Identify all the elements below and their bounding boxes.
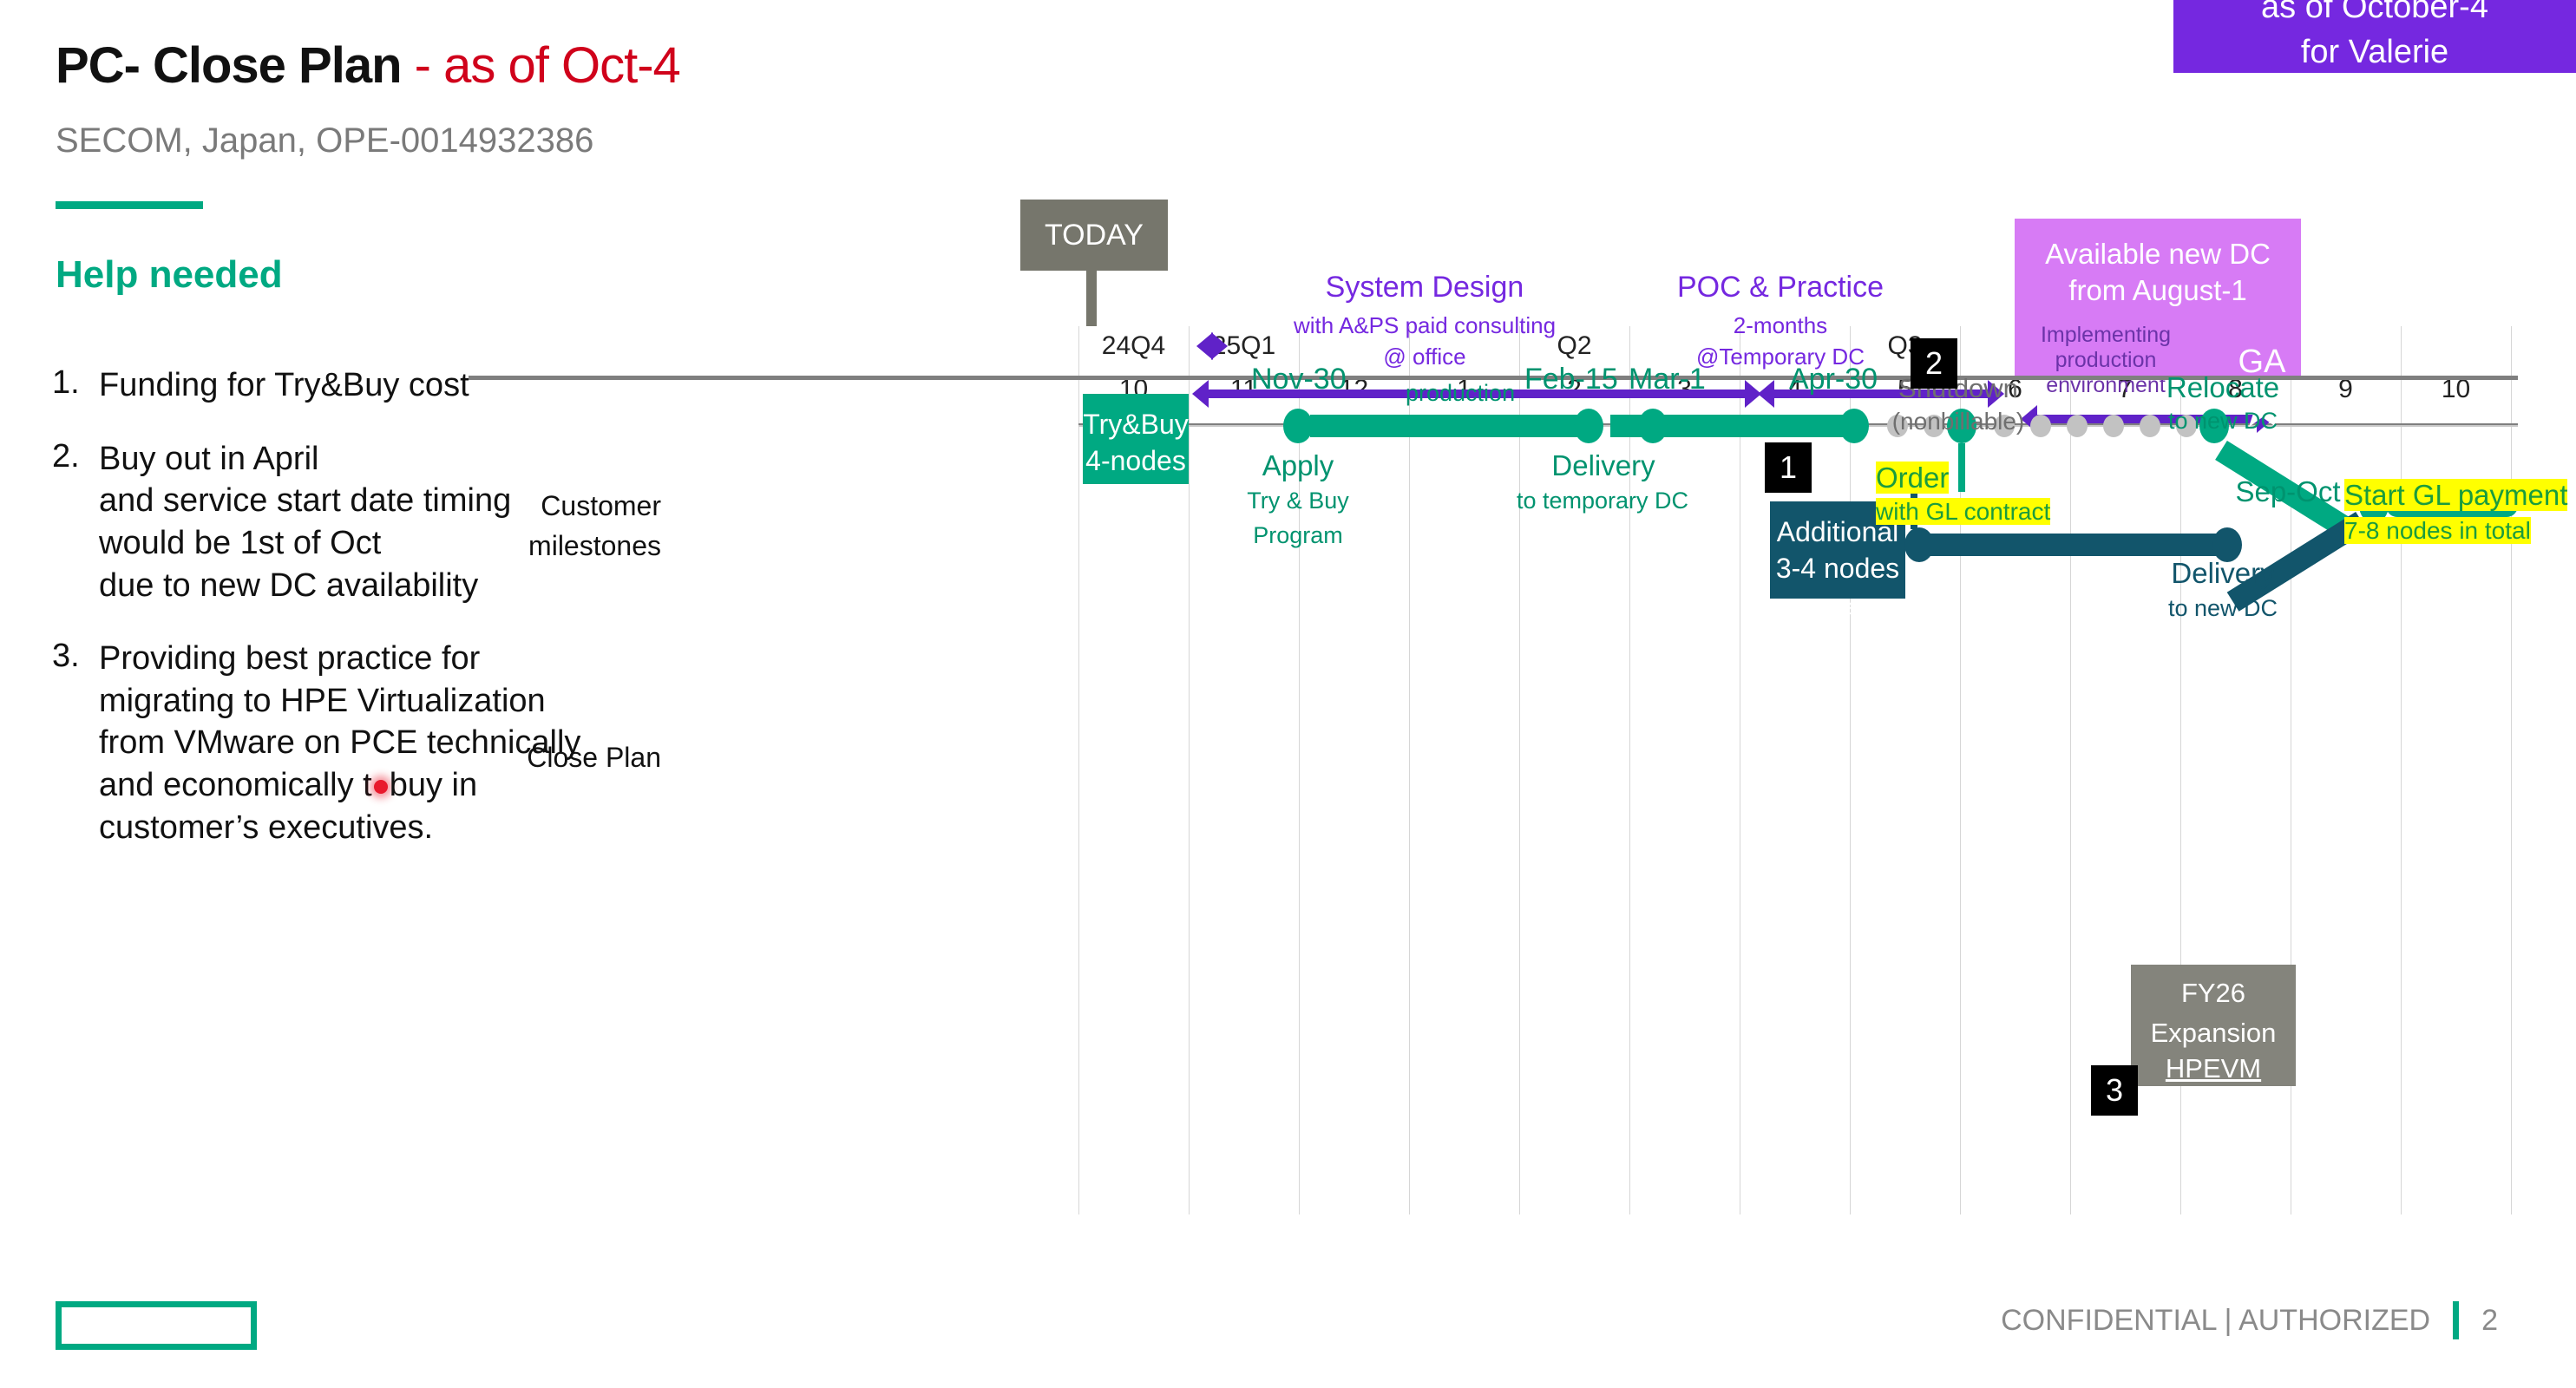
footer-classification: CONFIDENTIAL | AUTHORIZED — [2001, 1304, 2430, 1338]
trybuy-box-line1: Try&Buy — [1083, 394, 1189, 442]
valerie-note-line1: as of October-4 — [2173, 0, 2576, 29]
plan-node-nov30 — [1283, 409, 1313, 443]
implementing-line1: Implementing — [2019, 323, 2193, 348]
list-item-line: customer’s executives. — [99, 807, 580, 849]
axis-quarter-label: 24Q4 — [1078, 331, 1189, 361]
plan-bar-production — [1310, 415, 1579, 437]
list-item-line: due to new DC availability — [99, 565, 511, 607]
label-sep-oct: Sep-Oct — [2214, 475, 2362, 508]
grid-line — [1519, 326, 1520, 1214]
list-item-number: 2. — [52, 438, 99, 607]
plan-node-mar1 — [1638, 409, 1668, 443]
label-delivery-temp-sub: to temporary DC — [1494, 488, 1711, 514]
timeline-chart: TODAY 24Q4 25Q1 Q2 Q3 Q4 10 11 12 1 2 3 … — [887, 200, 2518, 1214]
row-label-line2: milestones — [488, 526, 661, 566]
plan-dot-gray — [2067, 415, 2088, 437]
grid-line — [2070, 326, 2071, 1214]
list-item-line: migrating to HPE Virtualization — [99, 680, 580, 723]
today-marker-flag: TODAY — [1020, 200, 1168, 271]
footer-page-number: 2 — [2481, 1304, 2498, 1338]
list-item-line: Funding for Try&Buy cost — [99, 364, 469, 407]
additional-box-line2: 3-4 nodes — [1770, 550, 1905, 586]
page-title-asof: as of Oct-4 — [443, 37, 680, 94]
plan-bar-additional — [1925, 534, 2226, 556]
fy26-line3: HPEVM — [2131, 1053, 2296, 1084]
list-item-text: Buy out in April and service start date … — [99, 438, 511, 607]
order-note-line1: Order — [1876, 462, 1949, 494]
grid-line — [1850, 326, 1851, 1214]
list-item-line: and service start date timing — [99, 480, 511, 522]
grid-line — [1189, 326, 1190, 1214]
valerie-note-line2: for Valerie — [2173, 29, 2576, 75]
label-apply-sub1: Try & Buy — [1234, 488, 1362, 514]
row-label-line1: Customer — [488, 486, 661, 526]
label-apply: Apply — [1234, 449, 1362, 482]
grid-line — [1409, 326, 1410, 1214]
gl-payment-line1: Start GL payment — [2344, 479, 2567, 512]
page-subtitle: SECOM, Japan, OPE-0014932386 — [56, 121, 593, 160]
page-title-dash: - — [415, 37, 430, 94]
label-relocate: Relocate — [2127, 371, 2318, 404]
callout-badge-1: 1 — [1765, 442, 1812, 493]
list-item-line: would be 1st of Oct — [99, 522, 511, 565]
help-needed-heading: Help needed — [56, 253, 283, 297]
hpe-logo — [56, 1301, 257, 1350]
label-delivery-newdc: Delivery — [2136, 557, 2310, 590]
milestone-poc-sub1: 2-months — [1655, 312, 1906, 339]
footer-divider — [2453, 1301, 2459, 1339]
label-shutdown-sub: (nonbillable) — [1858, 408, 2058, 435]
list-item: 1. Funding for Try&Buy cost — [52, 364, 833, 407]
label-apply-sub2: Program — [1234, 522, 1362, 549]
milestone-system-design-sub1: with A&PS paid consulting — [1268, 312, 1581, 339]
list-item: 3. Providing best practice for migrating… — [52, 638, 833, 848]
label-feb15: Feb-15 — [1524, 363, 1618, 396]
page-title: PC- Close Plan - as of Oct-4 — [56, 36, 680, 95]
plan-dot-gray — [2103, 415, 2124, 437]
list-item-text: Funding for Try&Buy cost — [99, 364, 469, 407]
grid-line — [2401, 326, 2402, 1214]
order-note-line2: with GL contract — [1876, 498, 2050, 526]
title-underline-rule — [56, 201, 203, 209]
grid-line — [1740, 326, 1740, 1214]
row-label-customer-milestones: Customer milestones — [488, 486, 661, 566]
grid-line — [1078, 326, 1079, 1214]
page-title-main: PC- Close Plan — [56, 37, 402, 94]
row-label-close-plan: Close Plan — [488, 737, 661, 777]
trybuy-box: Try&Buy 4-nodes VMware — [1083, 394, 1189, 484]
shutdown-drop-line — [1958, 443, 1965, 492]
callout-badge-3: 3 — [2091, 1065, 2138, 1116]
grid-line — [2511, 326, 2512, 1214]
cursor-dot-icon — [374, 780, 388, 794]
label-nov30: Nov-30 — [1251, 363, 1347, 396]
label-relocate-sub: to new DC — [2127, 408, 2318, 435]
plan-node-feb15 — [1574, 409, 1603, 443]
list-item-line-part-a: and economically t — [99, 767, 372, 803]
valerie-note-callout: as of October-4 for Valerie — [2173, 0, 2576, 73]
available-new-dc-title-line2: from August-1 — [2015, 272, 2301, 309]
label-production: production — [1406, 380, 1515, 407]
milestone-system-design-title: System Design — [1295, 271, 1555, 304]
fy26-expansion-box: FY26 Expansion HPEVM — [2131, 965, 2296, 1086]
list-item-line: Providing best practice for — [99, 638, 580, 680]
list-item-line: Buy out in April — [99, 438, 511, 481]
label-shutdown: Shutdown — [1858, 373, 2058, 404]
plan-bar-mar-apr — [1655, 415, 1847, 437]
trybuy-box-line2: 4-nodes — [1083, 442, 1189, 479]
label-delivery-newdc-sub: to new DC — [2136, 595, 2310, 622]
implementing-line2: production — [2019, 348, 2193, 373]
callout-badge-2: 2 — [1911, 338, 1957, 389]
list-item: 2. Buy out in April and service start da… — [52, 438, 833, 607]
list-item-line-part-b: buy in — [390, 767, 477, 803]
trybuy-box-line3: VMware — [1083, 479, 1189, 513]
fy26-line2: Expansion — [2131, 1013, 2296, 1053]
additional-box-line3: VMware — [1770, 586, 1905, 620]
fy26-line1: FY26 — [2131, 965, 2296, 1013]
today-marker-stem — [1086, 271, 1097, 326]
list-item-number: 3. — [52, 638, 99, 848]
milestone-poc-title: POC & Practice — [1655, 271, 1906, 304]
label-delivery-temp: Delivery — [1539, 449, 1668, 482]
available-new-dc-title-line1: Available new DC — [2015, 236, 2301, 272]
footer: CONFIDENTIAL | AUTHORIZED 2 — [2001, 1301, 2498, 1339]
help-needed-list: 1. Funding for Try&Buy cost 2. Buy out i… — [52, 364, 833, 880]
available-new-dc-title: Available new DC from August-1 — [2015, 236, 2301, 309]
label-mar1: Mar-1 — [1629, 363, 1706, 396]
list-item-number: 1. — [52, 364, 99, 407]
gl-payment-line2: 7-8 nodes in total — [2344, 517, 2531, 545]
